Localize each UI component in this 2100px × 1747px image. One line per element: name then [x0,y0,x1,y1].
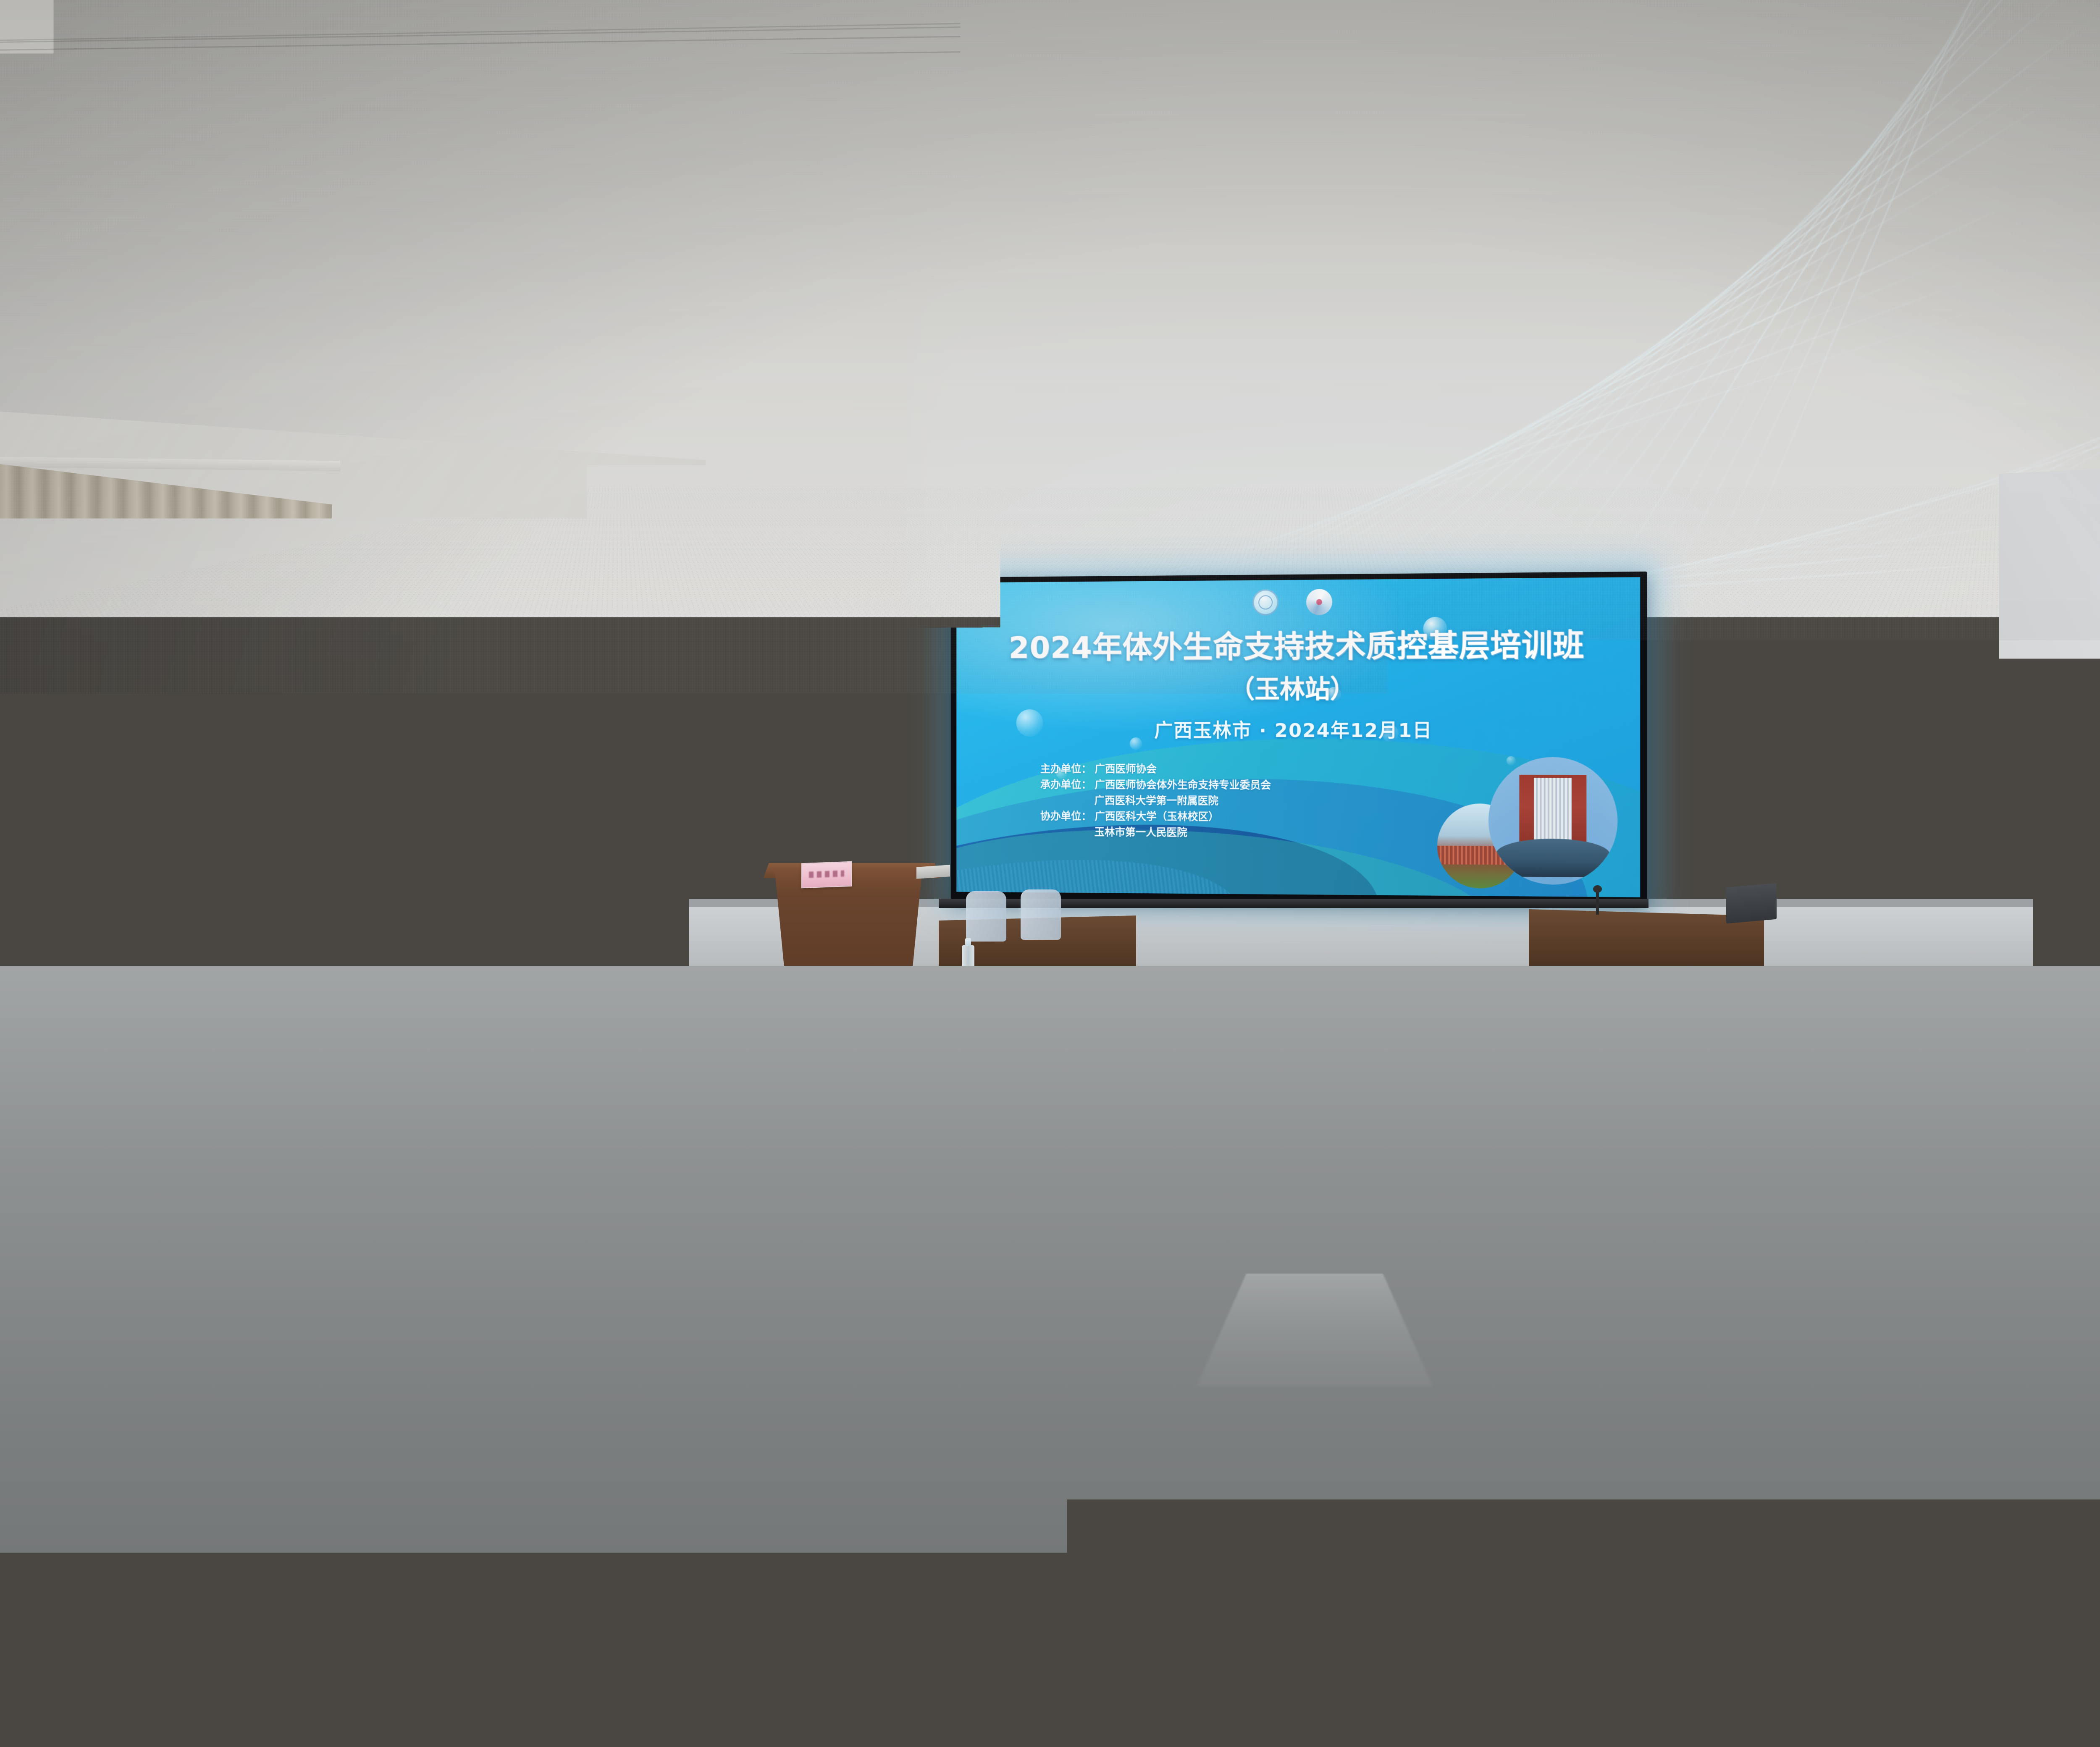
attendee-head [861,1222,945,1310]
attendee-head [443,1154,510,1223]
attendee-head [323,1017,362,1057]
attendee-head [313,1154,380,1223]
seat-cushion [1373,1052,1437,1078]
attendee-head [155,1097,210,1154]
attendee-head [1264,1097,1319,1154]
attendee-ear [461,1364,482,1398]
auditorium-seat[interactable] [94,1545,323,1747]
screen-logo-row [956,587,1640,617]
seat-cushion [882,1545,1111,1641]
screen-organizer-list: 主办单位： 广西医师协会 承办单位： 广西医师协会体外生命支持专业委员会 广西医… [1040,761,1347,841]
organizer-label: 协办单位： [1040,808,1092,824]
auditorium-seat[interactable] [0,1545,61,1747]
attendee-head [1158,1097,1213,1154]
seat-gold-trim [619,1638,848,1651]
attendee-head [1486,1307,1593,1421]
seat-wood-panel [1144,1650,1373,1747]
attendee-ear [1282,1077,1291,1091]
glasses-icon [1154,981,1163,986]
seat-cushion [1377,1018,1432,1041]
glasses-icon [250,1369,283,1388]
seat-gold-trim [1407,1638,1636,1651]
seat-cushion [94,1545,323,1641]
attendee-head [1105,1017,1145,1057]
attendee-head [64,1097,119,1154]
seat-cushion [619,1545,848,1641]
stage-chair [1021,889,1061,940]
attendee-ear [880,1006,887,1016]
attendee-head [896,1017,936,1057]
screen-subtitle: （玉林站） [956,668,1640,706]
attendee-head [919,1154,986,1223]
attendee-ear [1257,980,1263,989]
attendee-head [746,1017,785,1057]
glasses-icon [725,981,735,986]
organizer-value: 广西医师协会体外生命支持专业委员会 [1095,777,1271,793]
attendee-head [92,1307,199,1421]
attendee-head [554,1154,622,1223]
organizer-row: 主办单位： 广西医师协会 [1040,761,1347,777]
glasses-icon [835,1129,851,1138]
swirl-spiral-logo-icon [1306,589,1332,615]
attendee-head [755,1097,810,1154]
seat-cushion [466,1405,639,1477]
attendee-head [664,1097,719,1154]
ac-grille [349,805,453,867]
attendee-head [190,1154,257,1223]
attendee-head [1097,1307,1205,1421]
attendee-head [1049,1154,1116,1223]
seat-gold-trim [1058,1475,1231,1485]
attendee-head [232,1222,316,1310]
seat-gold-trim [0,1475,47,1485]
glasses-icon [289,981,298,986]
conference-hall-photo: 2024年体外生命支持技术质控基层培训班 （玉林站） 广西玉林市 · 2024年… [0,0,2100,1747]
attendee-head [92,1222,176,1310]
attendee-head [543,1017,583,1057]
attendee-head [821,1017,861,1057]
seat-gold-trim [269,1475,442,1485]
seat-cushion [1256,1405,1429,1477]
attendee-head [685,1154,752,1223]
screen-date-location: 广西玉林市 · 2024年12月1日 [956,715,1640,742]
seat-cushion [1453,1405,1626,1477]
seat-cushion [1058,1405,1231,1477]
wall-plaque-row [2022,835,2100,852]
attendee-head [398,1017,437,1057]
desk-microphone [1596,890,1599,915]
attendee-head [1277,1307,1384,1421]
glasses-icon [94,1039,106,1046]
attendee-ear [79,1006,86,1016]
attendee-head [558,1097,613,1154]
attendee-head [113,1017,153,1057]
standing-woman-left [454,815,534,978]
laptop-on-desk[interactable] [1726,883,1777,923]
seat-gold-trim [1144,1638,1373,1651]
attendee-ear [159,1188,172,1209]
glasses-icon [480,837,507,842]
attendee-head [1420,1154,1488,1223]
organizer-value: 广西医科大学（玉林校区） [1095,808,1219,825]
auditorium-seat[interactable] [1144,1545,1373,1747]
seat-gold-trim [94,1638,323,1651]
seat-cushion [1407,1545,1636,1641]
attendee-head [682,1017,722,1057]
seat-gold-trim [466,1475,639,1485]
attendee-head [1457,1222,1541,1310]
seat-wood-panel [94,1650,323,1747]
attendee-head [607,1017,647,1057]
seat-gold-trim [861,1475,1034,1485]
seat-gold-trim [664,1475,837,1485]
lectern-side-shelf [916,865,950,879]
speaker-mount-bracket [420,645,444,664]
organizer-label: 主办单位： [1040,761,1092,777]
presenter-shirt [831,811,859,851]
attendee-head [259,1017,298,1057]
screen-content: 2024年体外生命支持技术质控基层培训班 （玉林站） 广西玉林市 · 2024年… [956,577,1640,897]
seat-wood-panel [619,1650,848,1747]
attendee-ear [1417,1266,1434,1293]
organizer-value: 广西医科大学第一附属医院 [1040,792,1347,809]
attendee-head [1244,1017,1284,1057]
attendee-head [184,1017,223,1057]
wall-mounted-loudspeaker [773,586,799,666]
seat-cushion [664,1405,837,1477]
attendee-head [352,1097,407,1154]
attendee-ear [412,1188,425,1209]
glasses-icon [38,1129,54,1138]
led-display-screen: 2024年体外生命支持技术质控基层培训班 （玉林站） 广西玉林市 · 2024年… [951,572,1647,905]
woman-inner-top [482,865,507,949]
attendee-head [302,1307,409,1421]
attendee-head [261,1097,316,1154]
seat-cushion [71,1405,244,1477]
seat-gold-trim [0,1638,61,1651]
attendee-head [1031,1017,1070,1057]
attendee-head [1052,1097,1107,1154]
attendee-head [395,1222,479,1310]
attendee-ear [664,1037,672,1049]
attendee-head [1317,1222,1401,1310]
auditorium-seat[interactable] [357,1545,586,1747]
auditorium-seat[interactable] [1407,1545,1636,1747]
attendee-head [1290,1154,1357,1223]
glasses-icon [1193,1079,1207,1086]
seat-cushion [0,1545,61,1641]
seat-wood-panel [357,1650,586,1747]
auditorium-seat[interactable] [882,1545,1111,1747]
seat-gold-trim [672,1352,807,1359]
attendee-head [50,1017,89,1057]
attendee-head [967,1017,1006,1057]
auditorium-seat[interactable] [619,1545,848,1747]
hospital-building-photo [1488,757,1618,885]
seat-wood-panel [882,1650,1111,1747]
seat-gold-trim [1256,1475,1429,1485]
glasses-icon [530,1079,544,1086]
screen-main-title: 2024年体外生命支持技术质控基层培训班 [956,629,1640,663]
seat-wood-panel [1407,1650,1636,1747]
attendee-ear [206,1006,213,1016]
attendee-head [1169,1017,1209,1057]
attendee-head [1354,1097,1410,1154]
seat-cushion [0,1405,47,1477]
organizer-label: 承办单位： [1040,777,1092,793]
attendee-head [888,1307,995,1421]
ac-label-sticker [425,884,455,909]
attendee-head [698,1222,782,1310]
attendee-head [60,1154,127,1223]
seat-gold-trim [882,1638,1111,1651]
speaker-nameplate-card [801,861,852,889]
seat-gold-trim [71,1475,244,1485]
attendee-head [1179,1154,1246,1223]
attendee-head [1154,1222,1238,1310]
attendee-head [534,1222,618,1310]
seat-gold-trim [357,1638,586,1651]
attendee-head [1461,1097,1516,1154]
seat-cushion [0,1146,30,1183]
attendee-ear [837,1364,859,1398]
attendee-ear [1026,1126,1037,1143]
presenter-head [825,762,864,808]
glasses-icon [447,1007,458,1013]
seat-cushion [952,1094,1026,1124]
woman-face [479,826,508,861]
attendee-head [473,1017,512,1057]
seat-cushion [861,1405,1034,1477]
association-emblem-logo-icon [1252,589,1278,615]
seat-cushion [672,1298,807,1354]
stage-chair [966,891,1006,942]
attendee-ear [452,980,458,989]
organizer-value: 广西医师协会 [1095,761,1157,777]
organizer-row: 承办单位： 广西医师协会体外生命支持专业委员会 [1040,777,1347,794]
glasses-icon [1114,1270,1139,1285]
attendee-head [452,1097,507,1154]
seat-cushion [269,1405,442,1477]
organizer-row: 协办单位： 广西医科大学（玉林校区） [1040,808,1347,826]
attendee-ear [1007,1006,1013,1016]
seat-cushion [357,1545,586,1641]
seat-cushion [1144,1545,1373,1641]
organizer-value: 玉林市第一人民医院 [1040,824,1347,841]
attendee-head [1320,1017,1359,1057]
attendee-head [511,1307,618,1421]
wall-mounted-loudspeaker [391,594,454,649]
attendee-head [861,1097,916,1154]
seat-gold-trim [1453,1475,1626,1485]
seat-wood-panel [0,1650,61,1747]
